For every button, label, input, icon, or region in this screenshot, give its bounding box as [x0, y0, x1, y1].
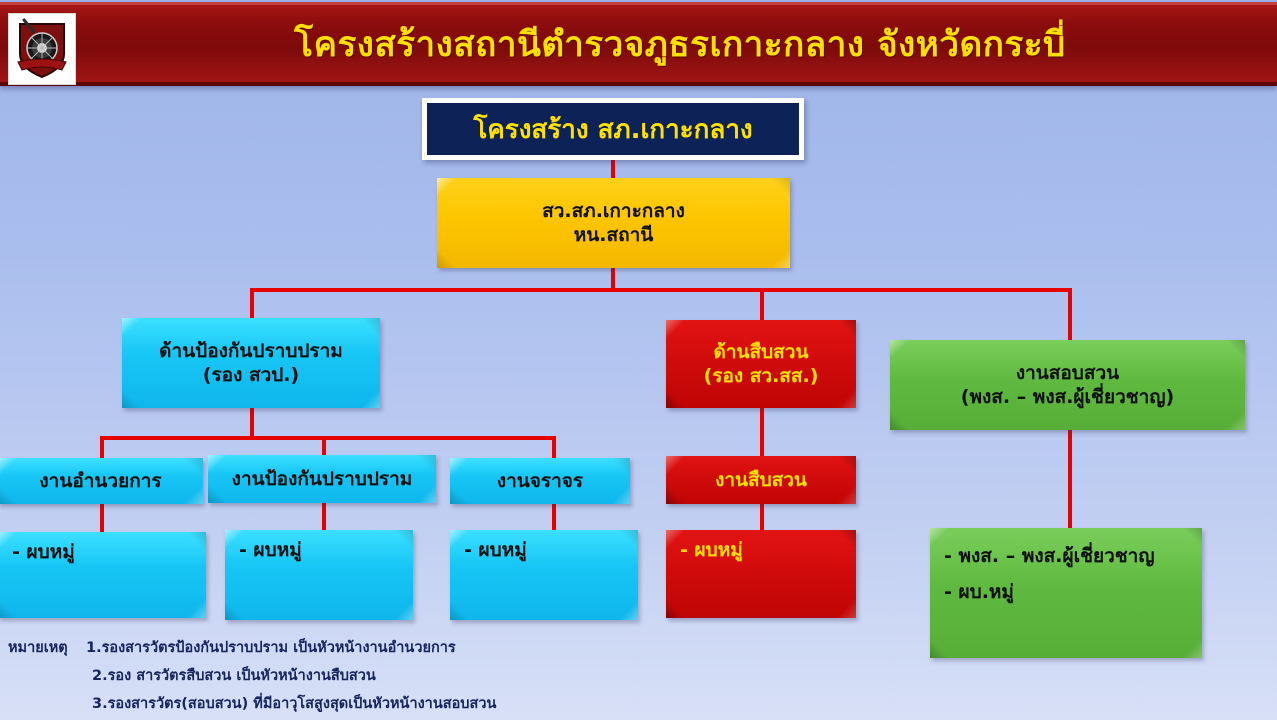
node-inquiry-branch-line1: งานสอบสวน [890, 361, 1245, 385]
node-traffic-staff[interactable]: - ผบหมู่ [450, 530, 638, 620]
node-admin-staff-label: - ผบหมู่ [12, 540, 206, 564]
node-prevention-work[interactable]: งานป้องกันปราบปราม [208, 455, 436, 503]
node-investigation-staff[interactable]: - ผบหมู่ [666, 530, 856, 618]
node-traffic-work-label: งานจราจร [450, 469, 630, 493]
connector-investigation-work-to-staff [760, 502, 764, 532]
node-prevention-work-label: งานป้องกันปราบปราม [208, 467, 436, 491]
node-investigation-branch[interactable]: ด้านสืบสวน (รอง สว.สส.) [666, 320, 856, 408]
node-admin-staff[interactable]: - ผบหมู่ [0, 532, 206, 618]
connector-bus-to-traffic-work [552, 436, 556, 460]
chart-title-card: โครงสร้าง สภ.เกาะกลาง [422, 98, 804, 160]
footnote-heading: หมายเหตุ [8, 634, 86, 662]
connector-inquiry-to-staff [1068, 430, 1072, 530]
node-inquiry-branch[interactable]: งานสอบสวน (พงส. – พงส.ผู้เชี่ยวชาญ) [890, 340, 1245, 430]
node-investigation-branch-line2: (รอง สว.สส.) [666, 364, 856, 388]
node-investigation-staff-label: - ผบหมู่ [680, 538, 856, 562]
connector-main-bus [250, 288, 1072, 292]
node-traffic-work[interactable]: งานจราจร [450, 458, 630, 504]
node-traffic-staff-label: - ผบหมู่ [464, 538, 638, 562]
node-inquiry-staff[interactable]: - พงส. – พงส.ผู้เชี่ยวชาญ - ผบ.หมู่ [930, 528, 1202, 658]
connector-bus-to-prevention [250, 288, 254, 322]
footnote-item-2: 2.รอง สารวัตรสืบสวน เป็นหัวหน้างานสืบสวน [92, 668, 376, 684]
node-admin-work[interactable]: งานอำนวยการ [0, 458, 203, 504]
node-prevention-branch-line2: (รอง สวป.) [122, 363, 380, 387]
page-title: โครงสร้างสถานีตำรวจภูธรเกาะกลาง จังหวัดก… [110, 15, 1250, 75]
node-prevention-branch-line1: ด้านป้องกันปราบปราม [122, 339, 380, 363]
footnote-item-1: 1.รองสารวัตรป้องกันปราบปราม เป็นหัวหน้าง… [86, 640, 456, 656]
footnote-row-3: 3.รองสารวัตร(สอบสวน) ที่มีอาวุโสสูงสุดเป… [8, 690, 628, 718]
connector-prevention-drop [250, 408, 254, 438]
chart-title-text: โครงสร้าง สภ.เกาะกลาง [473, 109, 752, 150]
node-prevention-branch[interactable]: ด้านป้องกันปราบปราม (รอง สวป.) [122, 318, 380, 408]
node-investigation-branch-line1: ด้านสืบสวน [666, 340, 856, 364]
node-station-chief-line1: สว.สภ.เกาะกลาง [437, 199, 790, 223]
header-banner: โครงสร้างสถานีตำรวจภูธรเกาะกลาง จังหวัดก… [0, 2, 1277, 86]
node-investigation-work-label: งานสืบสวน [666, 468, 856, 492]
footnote-row-2: 2.รอง สารวัตรสืบสวน เป็นหัวหน้างานสืบสวน [8, 662, 628, 690]
node-prevention-staff-label: - ผบหมู่ [239, 538, 413, 562]
connector-investigation-drop [760, 408, 764, 456]
footnotes: หมายเหตุ1.รองสารวัตรป้องกันปราบปราม เป็น… [8, 634, 628, 718]
footnote-row-1: หมายเหตุ1.รองสารวัตรป้องกันปราบปราม เป็น… [8, 634, 628, 662]
org-chart-canvas: โครงสร้างสถานีตำรวจภูธรเกาะกลาง จังหวัดก… [0, 0, 1277, 720]
connector-bus-to-admin-work [100, 436, 104, 460]
connector-admin-work-to-staff [100, 502, 104, 534]
node-investigation-work[interactable]: งานสืบสวน [666, 456, 856, 504]
connector-bus-to-prevention-work [322, 436, 326, 456]
connector-bus-to-investigation [760, 288, 764, 322]
node-admin-work-label: งานอำนวยการ [0, 469, 203, 493]
footnote-item-3: 3.รองสารวัตร(สอบสวน) ที่มีอาวุโสสูงสุดเป… [92, 696, 496, 712]
node-inquiry-staff-line2: - ผบ.หมู่ [944, 580, 1202, 604]
node-station-chief[interactable]: สว.สภ.เกาะกลาง หน.สถานี [437, 178, 790, 268]
connector-prevention-bus [100, 436, 556, 440]
police-badge-emblem-icon [8, 13, 76, 85]
node-prevention-staff[interactable]: - ผบหมู่ [225, 530, 413, 620]
node-inquiry-branch-line2: (พงส. – พงส.ผู้เชี่ยวชาญ) [890, 385, 1245, 409]
node-station-chief-line2: หน.สถานี [437, 223, 790, 247]
node-inquiry-staff-line1: - พงส. – พงส.ผู้เชี่ยวชาญ [944, 544, 1202, 568]
